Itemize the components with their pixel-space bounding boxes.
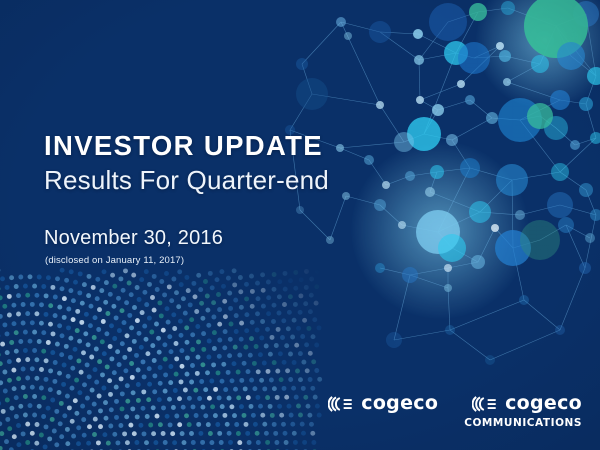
presentation-slide: INVESTOR UPDATE Results For Quarter-end … — [0, 0, 600, 450]
logo-bar: cogeco cogeco — [328, 394, 582, 429]
cogeco-communications-signal-icon — [472, 394, 498, 414]
cogeco-communications-tagline: COMMUNICATIONS — [464, 418, 582, 429]
cogeco-communications-wordmark: cogeco — [505, 394, 582, 413]
logo-cogeco-communications: cogeco COMMUNICATIONS — [464, 394, 582, 429]
cogeco-signal-icon — [328, 394, 354, 414]
page-subtitle: Results For Quarter-end — [44, 166, 329, 195]
quarter-end-date: November 30, 2016 — [44, 227, 329, 250]
page-title: INVESTOR UPDATE — [44, 132, 329, 160]
title-block: INVESTOR UPDATE Results For Quarter-end … — [44, 132, 329, 266]
logo-cogeco: cogeco — [328, 394, 438, 414]
cogeco-wordmark: cogeco — [361, 394, 438, 413]
disclosure-date: (disclosed on January 11, 2017) — [45, 255, 329, 266]
